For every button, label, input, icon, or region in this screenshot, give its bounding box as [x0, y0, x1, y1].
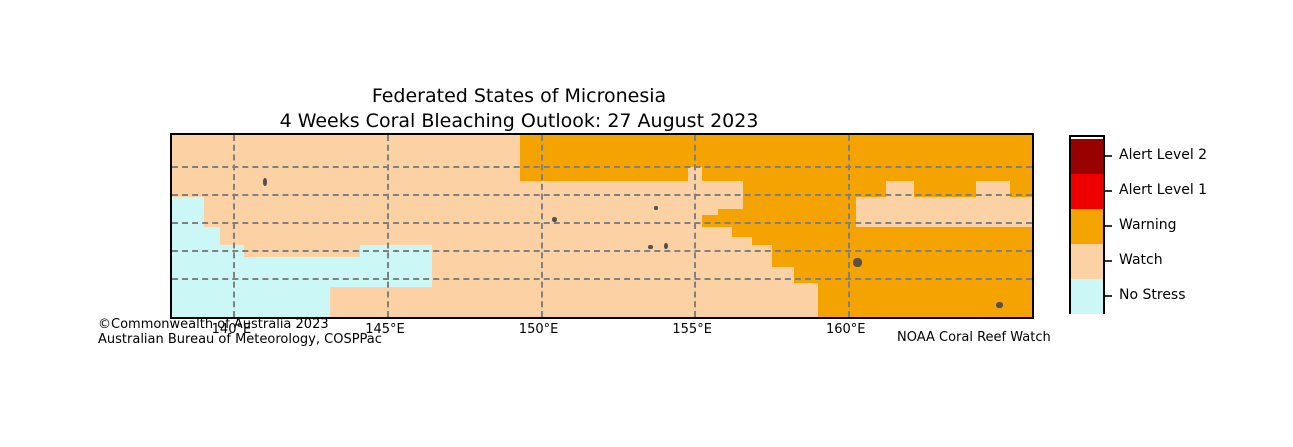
legend-swatch-alert-level-1	[1071, 174, 1103, 209]
alert-region-warning	[856, 227, 1032, 245]
gridline-vertical-160°E	[848, 135, 850, 317]
noaa-attribution: NOAA Coral Reef Watch	[897, 330, 1051, 345]
alert-region-warning	[772, 245, 1032, 267]
copyright-attribution: ©Commonwealth of Australia 2023 Australi…	[98, 317, 382, 347]
legend-tick	[1105, 225, 1112, 227]
x-tick-label: 155°E	[672, 323, 712, 336]
legend-swatch-alert-level-2	[1071, 139, 1103, 174]
alert-region-no-stress	[172, 287, 330, 317]
gridline-vertical-140°E	[233, 135, 235, 317]
alert-region-warning	[752, 237, 826, 245]
x-tick-label: 160°E	[826, 323, 866, 336]
gridline-horizontal-7°N	[172, 250, 1032, 252]
alert-region-warning	[818, 283, 1032, 317]
y-axis-tick-labels: 11°N10°N9°N8°N7°N6°N5°N	[0, 0, 164, 447]
legend-label-watch: Watch	[1119, 253, 1163, 267]
legend-swatch-watch	[1071, 244, 1103, 279]
gridline-vertical-150°E	[541, 135, 543, 317]
island-nomwin	[648, 245, 653, 249]
gridline-horizontal-6°N	[172, 278, 1032, 280]
copyright-line-1: ©Commonwealth of Australia 2023	[98, 317, 382, 332]
alert-region-warning	[826, 227, 856, 245]
alert-region-warning	[520, 135, 1032, 167]
island-pohnpei	[853, 258, 862, 267]
gridline-horizontal-9°N	[172, 194, 1032, 196]
bleaching-alert-regions	[172, 135, 1032, 317]
alert-region-warning	[702, 167, 1032, 181]
legend-label-warning: Warning	[1119, 218, 1177, 232]
x-tick-label: 150°E	[519, 323, 559, 336]
copyright-line-2: Australian Bureau of Meteorology, COSPPa…	[98, 332, 382, 347]
island-yap	[263, 178, 267, 186]
legend-label-alert-level-2: Alert Level 2	[1119, 148, 1207, 162]
alert-region-no-stress	[172, 257, 360, 287]
island-kosrae	[996, 302, 1003, 308]
gridline-vertical-145°E	[387, 135, 389, 317]
map-plot-area	[170, 133, 1034, 319]
alert-region-warning	[732, 227, 826, 237]
legend-label-alert-level-1: Alert Level 1	[1119, 183, 1207, 197]
alert-region-warning	[520, 167, 688, 181]
alert-region-warning	[794, 267, 1032, 283]
gridline-vertical-155°E	[694, 135, 696, 317]
legend-swatch-warning	[1071, 209, 1103, 244]
coral-bleaching-outlook-figure: Federated States of Micronesia 4 Weeks C…	[0, 0, 1293, 447]
legend-tick	[1105, 260, 1112, 262]
gridline-horizontal-10°N	[172, 166, 1032, 168]
legend-label-no-stress: No Stress	[1119, 288, 1186, 302]
alert-region-no-stress	[172, 227, 220, 245]
legend-tick	[1105, 295, 1112, 297]
alert-region-warning	[718, 209, 743, 227]
legend-colorbar	[1069, 135, 1105, 314]
legend-tick	[1105, 155, 1112, 157]
gridline-horizontal-8°N	[172, 222, 1032, 224]
island-losap	[654, 206, 658, 210]
island-etal	[664, 243, 668, 249]
legend-swatch-no-stress	[1071, 279, 1103, 314]
legend-tick	[1105, 190, 1112, 192]
